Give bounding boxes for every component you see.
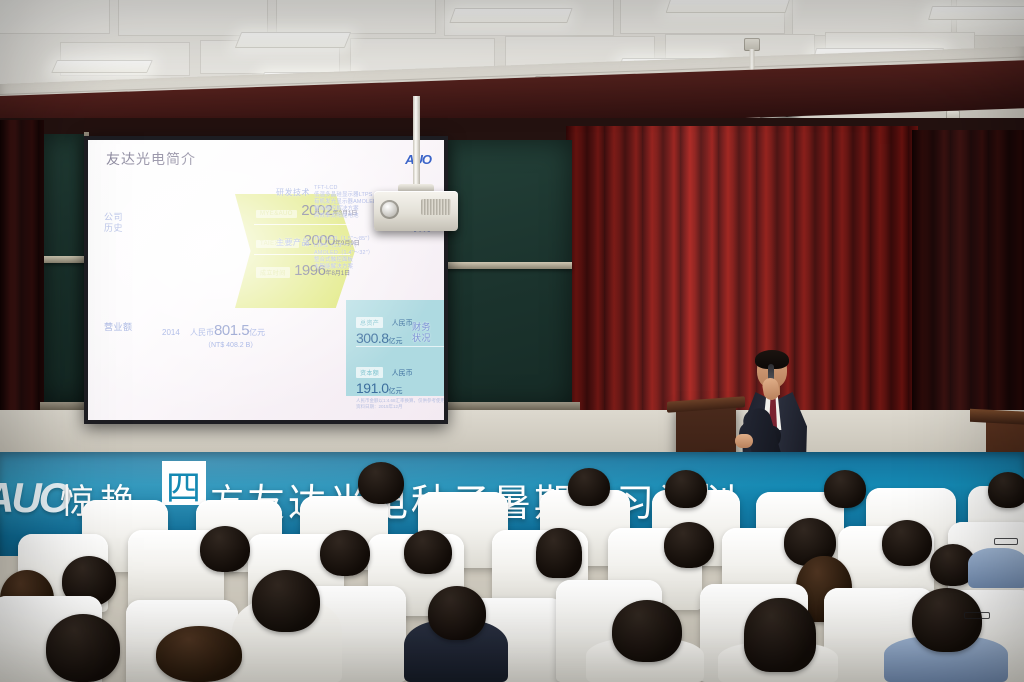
audience-head bbox=[882, 520, 932, 566]
revenue-row: 2014 人民币801.5亿元 bbox=[162, 322, 265, 339]
stage-curtain-left bbox=[0, 120, 44, 460]
ceiling-light bbox=[928, 6, 1024, 20]
label-main-products: 主要产品 bbox=[276, 238, 310, 248]
audience-head bbox=[404, 530, 452, 574]
audience-head bbox=[428, 586, 486, 640]
audience-head bbox=[156, 626, 242, 682]
financial-tag: 总资产 bbox=[356, 317, 383, 328]
audience-head bbox=[46, 614, 120, 682]
banner-boxed-char: 四 bbox=[166, 460, 201, 511]
eyeglasses-icon bbox=[964, 612, 990, 619]
financial-amount: 300.8 bbox=[356, 330, 389, 346]
financial-currency: 人民币 bbox=[392, 320, 413, 327]
revenue-unit: 亿元 bbox=[249, 328, 265, 337]
history-tag: 成立时间 bbox=[256, 267, 290, 278]
chalkboard-center bbox=[440, 140, 572, 408]
financial-amount: 191.0 bbox=[356, 380, 389, 396]
speaker-hand bbox=[735, 434, 753, 448]
audience-head bbox=[536, 528, 582, 578]
banner-boxed-char-bg: 四 bbox=[162, 461, 206, 505]
financial-row: 总资产 人民币300.8亿元 bbox=[356, 312, 444, 348]
financial-currency: 人民币 bbox=[392, 370, 413, 377]
label-revenue: 营业额 bbox=[104, 322, 133, 333]
audience-head bbox=[912, 588, 982, 652]
projector-mount-pole bbox=[413, 96, 420, 188]
chalkboard-left bbox=[44, 134, 88, 402]
financial-unit: 亿元 bbox=[389, 338, 403, 345]
product-line: 太阳能解决方案 bbox=[314, 264, 414, 271]
projector-vent bbox=[421, 199, 451, 215]
history-tag: MYE&AUO bbox=[256, 210, 297, 218]
ceiling-projector bbox=[374, 191, 458, 231]
projection-screen: 友达光电简介 AUO 公司历史 营业额 营运状况 财务状况 MYE&AUO 20… bbox=[84, 136, 448, 424]
audience-head bbox=[200, 526, 250, 572]
audience-head bbox=[568, 468, 610, 506]
slide-title: 友达光电简介 bbox=[106, 149, 196, 169]
eyeglasses-icon bbox=[994, 538, 1018, 545]
audience-shoulders bbox=[968, 548, 1024, 588]
audience-head bbox=[665, 470, 707, 508]
label-company-history: 公司历史 bbox=[104, 212, 123, 234]
product-line: AMOLED（1.4"〜32"） bbox=[314, 250, 414, 257]
audience-head bbox=[744, 598, 816, 672]
projector-lens-icon bbox=[380, 200, 399, 219]
lecture-hall-photo: 友达光电简介 AUO 公司历史 营业额 营运状况 财务状况 MYE&AUO 20… bbox=[0, 0, 1024, 682]
audience-head bbox=[988, 472, 1024, 508]
product-line: TFT-LCD（1.5"〜85"） bbox=[314, 236, 414, 243]
audience-head bbox=[612, 600, 682, 662]
products-list: TFT-LCD（1.5"〜85"） LTPS（1.3"〜7"） AMOLED（1… bbox=[314, 236, 414, 271]
ceiling-light bbox=[235, 32, 351, 48]
financial-tag: 资本额 bbox=[356, 367, 383, 378]
ceiling-light bbox=[51, 60, 153, 73]
audience-head bbox=[252, 570, 320, 632]
product-line: 整合式触控面板 bbox=[314, 257, 414, 264]
product-line: LTPS（1.3"〜7"） bbox=[314, 243, 414, 250]
chalk-rail-center bbox=[440, 262, 572, 269]
financial-row: 资本额 人民币191.0亿元 bbox=[356, 362, 444, 398]
ceiling-light bbox=[449, 8, 572, 23]
audience-head bbox=[664, 522, 714, 568]
audience-head bbox=[320, 530, 370, 576]
revenue-currency: 人民币 bbox=[190, 328, 214, 337]
revenue-amount: 801.5 bbox=[214, 322, 249, 339]
audience-head bbox=[358, 462, 404, 504]
audience-head bbox=[824, 470, 866, 508]
ceiling-light bbox=[666, 0, 791, 13]
slide-footnote: 人民币金额以1:4.68汇率换算，仅供参考使用 资料日期：2015年12月 bbox=[356, 398, 444, 410]
label-rd-tech: 研发技术 bbox=[276, 188, 310, 198]
revenue-year: 2014 bbox=[162, 328, 180, 337]
history-date: 年8月1日 bbox=[325, 271, 350, 277]
presentation-slide: 友达光电简介 AUO 公司历史 营业额 营运状况 财务状况 MYE&AUO 20… bbox=[88, 140, 444, 420]
financial-unit: 亿元 bbox=[389, 388, 403, 395]
auo-logo-banner: AUO bbox=[0, 474, 68, 522]
revenue-note: （NT$ 408.2 B） bbox=[204, 340, 257, 350]
